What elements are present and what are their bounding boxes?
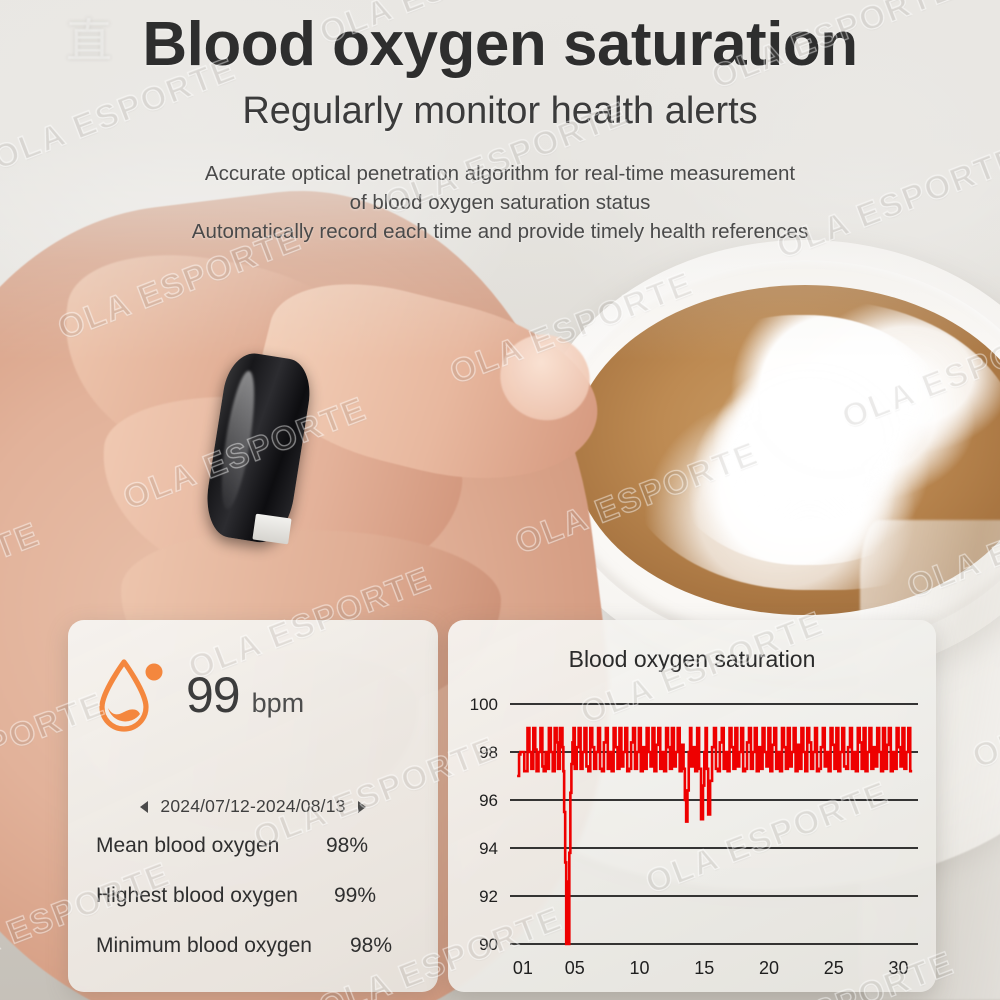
stat-value: 98%	[326, 834, 410, 858]
description-line-1: Accurate optical penetration algorithm f…	[0, 159, 1000, 188]
chart-area: 909294969810001051015202530	[448, 696, 936, 986]
spo2-stats-list: Mean blood oxygen 98% Highest blood oxyg…	[68, 834, 438, 984]
blood-drop-icon	[94, 652, 168, 738]
spo2-chart-card: Blood oxygen saturation 9092949698100010…	[448, 620, 936, 992]
description-line-3: Automatically record each time and provi…	[0, 217, 1000, 246]
spo2-value: 99	[186, 670, 240, 720]
page-subtitle: Regularly monitor health alerts	[0, 91, 1000, 133]
header-block: Blood oxygen saturation Regularly monito…	[0, 0, 1000, 246]
y-axis-tick-label: 98	[479, 743, 498, 762]
stat-row-minimum: Minimum blood oxygen 98%	[68, 934, 438, 984]
x-axis-tick-label: 01	[513, 958, 533, 978]
stat-label: Mean blood oxygen	[96, 834, 279, 858]
stat-label: Highest blood oxygen	[96, 884, 298, 908]
x-axis-tick-label: 15	[694, 958, 714, 978]
spo2-unit: bpm	[252, 688, 305, 719]
spo2-reading-row: 99 bpm	[94, 652, 304, 738]
chevron-left-icon[interactable]	[140, 801, 148, 813]
chart-title: Blood oxygen saturation	[448, 646, 936, 673]
stat-value: 99%	[334, 884, 410, 908]
y-axis-tick-label: 100	[470, 696, 498, 714]
x-axis-tick-label: 10	[630, 958, 650, 978]
y-axis-tick-label: 96	[479, 791, 498, 810]
x-axis-tick-label: 20	[759, 958, 779, 978]
stat-row-mean: Mean blood oxygen 98%	[68, 834, 438, 884]
spo2-summary-card: 99 bpm 2024/07/12-2024/08/13 Mean blood …	[68, 620, 438, 992]
x-axis-tick-label: 05	[565, 958, 585, 978]
description-block: Accurate optical penetration algorithm f…	[0, 159, 1000, 246]
description-line-2: of blood oxygen saturation status	[0, 188, 1000, 217]
stat-row-highest: Highest blood oxygen 99%	[68, 884, 438, 934]
stat-value: 98%	[350, 934, 410, 958]
chart-series-line	[517, 728, 912, 944]
product-marketing-image: 直 Blood oxygen saturation Regularly moni…	[0, 0, 1000, 1000]
y-axis-tick-label: 90	[479, 935, 498, 954]
y-axis-tick-label: 94	[479, 839, 498, 858]
date-range-selector[interactable]: 2024/07/12-2024/08/13	[68, 796, 438, 817]
page-title: Blood oxygen saturation	[0, 12, 1000, 77]
chevron-right-icon[interactable]	[358, 801, 366, 813]
y-axis-tick-label: 92	[479, 887, 498, 906]
date-range-label: 2024/07/12-2024/08/13	[160, 796, 345, 817]
stat-label: Minimum blood oxygen	[96, 934, 312, 958]
x-axis-tick-label: 25	[824, 958, 844, 978]
spo2-line-chart: 909294969810001051015202530	[448, 696, 936, 986]
x-axis-tick-label: 30	[889, 958, 909, 978]
